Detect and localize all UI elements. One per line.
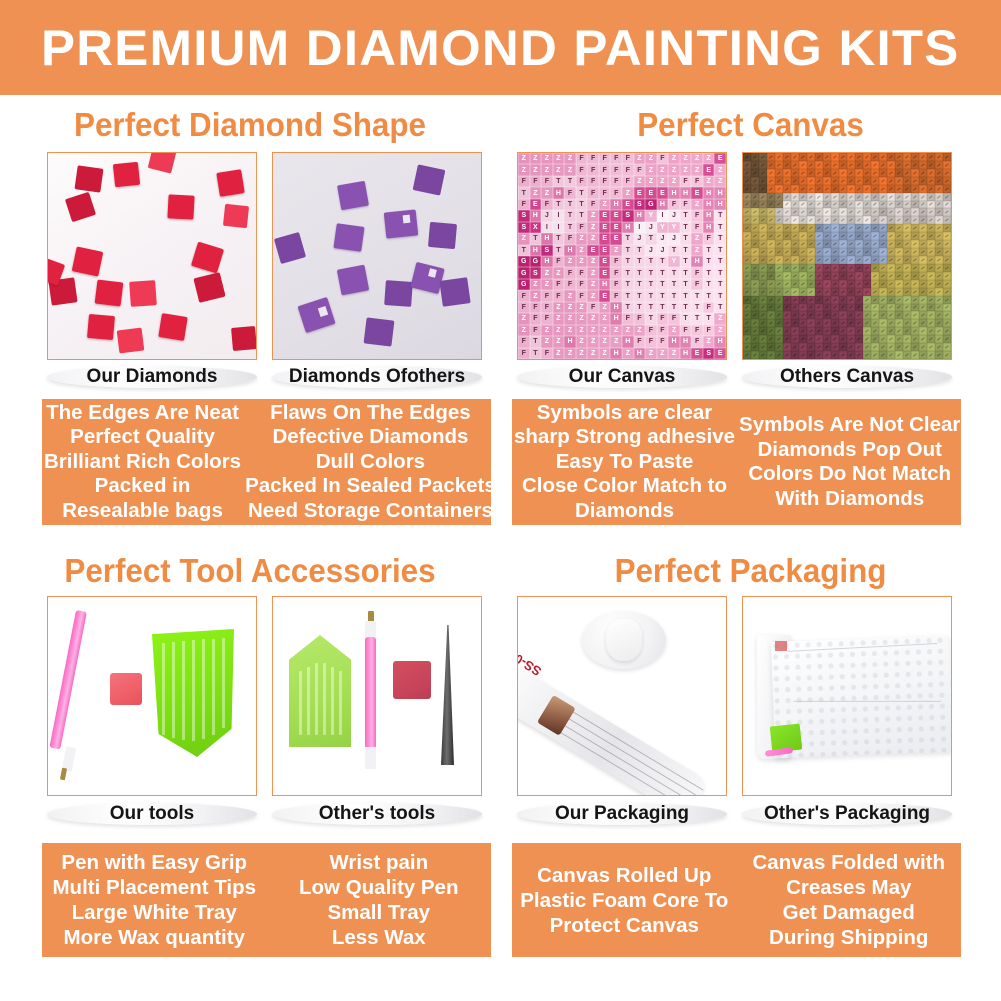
infographic-page: PREMIUM DIAMOND PAINTING KITS Perfect Di…	[0, 0, 1001, 1001]
canvas-symbol-cell	[743, 256, 751, 264]
canvas-symbol-cell	[759, 319, 767, 327]
canvas-symbol-cell	[919, 319, 927, 327]
canvas-symbol-cell	[911, 177, 919, 185]
canvas-symbol-cell	[927, 319, 935, 327]
canvas-symbol-cell	[855, 296, 863, 304]
canvas-symbol-cell	[799, 248, 807, 256]
canvas-symbol-cell: Z	[541, 153, 553, 164]
canvas-symbol-cell	[863, 201, 871, 209]
canvas-symbol-cell	[767, 288, 775, 296]
canvas-symbol-cell	[743, 177, 751, 185]
canvas-symbol-cell	[743, 232, 751, 240]
canvas-symbol-cell	[919, 264, 927, 272]
text-line: Large White Tray	[72, 900, 237, 925]
canvas-symbol-cell	[839, 304, 847, 312]
canvas-symbol-cell: H	[714, 336, 726, 347]
canvas-symbol-cell	[807, 264, 815, 272]
canvas-symbol-cell	[855, 177, 863, 185]
canvas-symbol-cell: H	[680, 336, 692, 347]
canvas-symbol-cell	[831, 232, 839, 240]
canvas-symbol-cell	[831, 296, 839, 304]
canvas-symbol-cell	[807, 201, 815, 209]
small-wax-square-shape	[393, 661, 431, 699]
canvas-symbol-cell	[831, 169, 839, 177]
canvas-symbol-cell: F	[530, 302, 542, 313]
canvas-symbol-cell	[767, 296, 775, 304]
canvas-symbol-cell	[751, 177, 759, 185]
canvas-symbol-cell	[847, 280, 855, 288]
canvas-symbol-cell: T	[691, 290, 703, 301]
canvas-symbol-cell	[895, 232, 903, 240]
canvas-symbol-cell	[799, 319, 807, 327]
canvas-symbol-cell: F	[587, 199, 599, 210]
canvas-symbol-cell	[839, 351, 847, 359]
canvas-symbol-cell	[751, 304, 759, 312]
canvas-symbol-cell	[815, 153, 823, 161]
canvas-symbol-cell: H	[680, 348, 692, 359]
canvas-symbol-cell: Y	[645, 210, 657, 221]
canvas-symbol-cell: E	[703, 164, 715, 175]
canvas-symbol-cell	[839, 224, 847, 232]
canvas-symbol-cell: T	[703, 256, 715, 267]
canvas-symbol-cell	[879, 208, 887, 216]
canvas-symbol-cell	[807, 208, 815, 216]
canvas-symbol-cell	[887, 248, 895, 256]
canvas-symbol-cell	[847, 335, 855, 343]
canvas-symbol-cell: G	[645, 199, 657, 210]
canvas-symbol-cell	[767, 224, 775, 232]
canvas-symbol-cell	[799, 208, 807, 216]
canvas-symbol-cell	[863, 327, 871, 335]
canvas-symbol-cell	[855, 224, 863, 232]
canvas-symbol-cell	[807, 319, 815, 327]
canvas-symbol-cell	[783, 153, 791, 161]
canvas-symbol-cell: F	[553, 256, 565, 267]
canvas-symbol-cell	[919, 272, 927, 280]
canvas-symbol-cell: F	[587, 153, 599, 164]
canvas-symbol-cell	[815, 304, 823, 312]
canvas-symbol-cell: Z	[634, 153, 646, 164]
canvas-symbol-cell: T	[645, 256, 657, 267]
canvas-symbol-cell	[791, 201, 799, 209]
canvas-symbol-cell	[767, 169, 775, 177]
canvas-symbol-cell: T	[703, 290, 715, 301]
canvas-symbol-cell	[831, 327, 839, 335]
canvas-symbol-cell	[903, 224, 911, 232]
canvas-symbol-cell: T	[691, 302, 703, 313]
canvas-symbol-cell	[887, 185, 895, 193]
canvas-symbol-cell	[751, 224, 759, 232]
canvas-symbol-cell: T	[680, 210, 692, 221]
canvas-symbol-cell	[759, 193, 767, 201]
canvas-symbol-cell	[911, 319, 919, 327]
canvas-symbol-cell	[815, 240, 823, 248]
canvas-symbol-cell	[903, 193, 911, 201]
canvas-symbol-cell	[919, 327, 927, 335]
canvas-symbol-cell	[751, 288, 759, 296]
canvas-symbol-cell	[871, 201, 879, 209]
canvas-symbol-cell	[855, 351, 863, 359]
canvas-symbol-cell	[943, 193, 951, 201]
canvas-symbol-cell	[855, 232, 863, 240]
canvas-symbol-cell	[791, 296, 799, 304]
text-line: Creases May	[786, 875, 911, 900]
canvas-symbol-cell: H	[610, 313, 622, 324]
canvas-symbol-cell	[895, 311, 903, 319]
canvas-symbol-cell	[927, 177, 935, 185]
canvas-symbol-cell	[895, 193, 903, 201]
canvas-symbol-cell	[783, 232, 791, 240]
canvas-symbol-cell	[823, 232, 831, 240]
canvas-symbol-cell	[815, 351, 823, 359]
canvas-symbol-cell: J	[645, 222, 657, 233]
canvas-symbol-cell	[903, 335, 911, 343]
canvas-symbol-cell: H	[668, 187, 680, 198]
canvas-symbol-cell: F	[610, 153, 622, 164]
canvas-symbol-cell: S	[530, 267, 542, 278]
canvas-symbol-cell: Z	[599, 302, 611, 313]
canvas-symbol-cell	[831, 288, 839, 296]
canvas-symbol-cell	[799, 161, 807, 169]
canvas-symbol-cell	[839, 264, 847, 272]
canvas-symbol-cell	[871, 232, 879, 240]
canvas-symbol-cell	[751, 327, 759, 335]
canvas-symbol-cell: T	[622, 256, 634, 267]
canvas-symbol-cell: F	[680, 176, 692, 187]
text-line: Close Color Match to	[522, 474, 727, 499]
canvas-symbol-cell	[807, 327, 815, 335]
canvas-symbol-cell	[783, 224, 791, 232]
canvas-symbol-cell	[903, 280, 911, 288]
canvas-symbol-cell	[751, 232, 759, 240]
canvas-symbol-cell	[903, 232, 911, 240]
canvas-symbol-cell	[855, 185, 863, 193]
canvas-symbol-cell	[759, 216, 767, 224]
canvas-symbol-cell	[791, 248, 799, 256]
canvas-symbol-cell	[775, 216, 783, 224]
canvas-symbol-cell: T	[645, 233, 657, 244]
canvas-symbol-cell	[903, 201, 911, 209]
text-line: Defective Diamonds	[272, 425, 468, 450]
canvas-symbol-cell	[783, 201, 791, 209]
canvas-symbol-cell: F	[657, 313, 669, 324]
canvas-symbol-cell	[871, 216, 879, 224]
canvas-symbol-cell: T	[657, 256, 669, 267]
canvas-symbol-cell: Z	[691, 245, 703, 256]
canvas-symbol-cell	[743, 304, 751, 312]
canvas-symbol-cell: T	[530, 348, 542, 359]
canvas-symbol-cell	[863, 296, 871, 304]
canvas-symbol-cell	[847, 185, 855, 193]
canvas-symbol-cell	[759, 272, 767, 280]
canvas-symbol-cell: H	[714, 199, 726, 210]
canvas-symbol-cell	[831, 343, 839, 351]
canvas-symbol-cell: T	[564, 199, 576, 210]
canvas-symbol-cell	[751, 280, 759, 288]
canvas-symbol-cell: T	[634, 267, 646, 278]
canvas-symbol-cell	[863, 288, 871, 296]
small-green-tray-shape	[289, 635, 351, 747]
canvas-symbol-cell	[911, 248, 919, 256]
canvas-symbol-cell	[783, 256, 791, 264]
canvas-symbol-cell: T	[680, 267, 692, 278]
canvas-symbol-cell: Z	[530, 279, 542, 290]
text-line: Canvas Rolled Up	[537, 863, 711, 888]
canvas-symbol-cell	[855, 153, 863, 161]
canvas-symbol-cell: I	[553, 210, 565, 221]
photo-our-canvas: ZZZZZFFFFFZZFZZZZEZZZZZFFFFFFZZZZZEZFFFT…	[517, 152, 727, 360]
canvas-symbol-cell: Z	[564, 325, 576, 336]
canvas-symbol-cell	[927, 351, 935, 359]
canvas-symbol-cell	[935, 351, 943, 359]
canvas-symbol-cell	[863, 240, 871, 248]
canvas-symbol-cell: Z	[541, 267, 553, 278]
pink-symbol-grid: ZZZZZFFFFFZZFZZZZEZZZZZFFFFFFZZZZZEZFFFT…	[518, 153, 726, 359]
canvas-symbol-cell	[767, 193, 775, 201]
canvas-symbol-cell: E	[622, 199, 634, 210]
canvas-symbol-cell	[807, 153, 815, 161]
canvas-symbol-cell	[823, 185, 831, 193]
canvas-symbol-cell	[879, 296, 887, 304]
canvas-symbol-cell: F	[610, 176, 622, 187]
canvas-symbol-cell	[767, 351, 775, 359]
canvas-symbol-cell	[871, 272, 879, 280]
canvas-symbol-cell	[783, 280, 791, 288]
canvas-symbol-cell: T	[634, 256, 646, 267]
canvas-symbol-cell	[759, 208, 767, 216]
text-line: Symbols Are Not Clear	[739, 413, 960, 438]
canvas-symbol-cell	[935, 256, 943, 264]
canvas-symbol-cell	[847, 248, 855, 256]
large-green-tray-shape	[152, 629, 234, 757]
photo-our-diamonds	[47, 152, 257, 360]
canvas-symbol-cell	[791, 240, 799, 248]
canvas-symbol-cell	[911, 169, 919, 177]
canvas-symbol-cell	[783, 240, 791, 248]
canvas-symbol-cell: E	[599, 256, 611, 267]
canvas-symbol-cell	[911, 343, 919, 351]
canvas-symbol-cell	[823, 216, 831, 224]
text-block-tool-accessories: Pen with Easy GripMulti Placement TipsLa…	[42, 843, 491, 957]
canvas-symbol-cell	[919, 224, 927, 232]
canvas-symbol-cell	[815, 288, 823, 296]
canvas-symbol-cell	[839, 335, 847, 343]
canvas-symbol-cell	[911, 288, 919, 296]
canvas-symbol-cell: F	[691, 210, 703, 221]
canvas-symbol-cell: Z	[668, 348, 680, 359]
canvas-symbol-cell: F	[518, 290, 530, 301]
canvas-symbol-cell	[799, 232, 807, 240]
canvas-symbol-cell	[919, 193, 927, 201]
canvas-symbol-cell	[759, 335, 767, 343]
canvas-symbol-cell	[791, 153, 799, 161]
canvas-symbol-cell: T	[714, 245, 726, 256]
canvas-symbol-cell	[911, 311, 919, 319]
canvas-symbol-cell	[743, 288, 751, 296]
canvas-symbol-cell	[743, 296, 751, 304]
text-line: The Edges Are Neat	[46, 401, 239, 426]
canvas-symbol-cell	[759, 304, 767, 312]
canvas-symbol-cell: S	[634, 199, 646, 210]
canvas-symbol-cell	[895, 319, 903, 327]
canvas-symbol-cell	[935, 161, 943, 169]
canvas-symbol-cell	[767, 177, 775, 185]
canvas-symbol-cell: G	[518, 279, 530, 290]
canvas-symbol-cell: Z	[703, 153, 715, 164]
canvas-symbol-cell: H	[599, 279, 611, 290]
canvas-symbol-cell: Z	[610, 325, 622, 336]
canvas-symbol-cell: F	[576, 176, 588, 187]
canvas-symbol-cell	[919, 343, 927, 351]
canvas-symbol-cell	[863, 169, 871, 177]
canvas-symbol-cell	[767, 335, 775, 343]
canvas-symbol-cell	[839, 296, 847, 304]
canvas-symbol-cell	[903, 311, 911, 319]
canvas-symbol-cell: Z	[576, 302, 588, 313]
canvas-symbol-cell: Z	[587, 222, 599, 233]
canvas-symbol-cell	[759, 185, 767, 193]
canvas-symbol-cell	[799, 224, 807, 232]
canvas-symbol-cell: T	[622, 267, 634, 278]
canvas-symbol-cell: E	[657, 187, 669, 198]
canvas-symbol-cell	[799, 264, 807, 272]
canvas-symbol-cell	[919, 288, 927, 296]
canvas-symbol-cell	[855, 335, 863, 343]
canvas-symbol-cell	[767, 256, 775, 264]
canvas-symbol-cell	[783, 351, 791, 359]
canvas-symbol-cell	[751, 201, 759, 209]
canvas-symbol-cell	[943, 288, 951, 296]
canvas-symbol-cell	[895, 351, 903, 359]
canvas-symbol-cell: F	[518, 348, 530, 359]
canvas-symbol-cell	[895, 208, 903, 216]
canvas-symbol-cell	[783, 319, 791, 327]
page-title: PREMIUM DIAMOND PAINTING KITS	[41, 19, 960, 77]
canvas-symbol-cell	[895, 304, 903, 312]
text-line: Plastic Foam Core To	[520, 888, 728, 913]
text-line: With Diamonds	[775, 487, 924, 512]
canvas-symbol-cell	[871, 161, 879, 169]
canvas-symbol-cell: S	[518, 222, 530, 233]
canvas-symbol-cell	[791, 288, 799, 296]
canvas-symbol-cell	[863, 280, 871, 288]
canvas-symbol-cell	[839, 232, 847, 240]
canvas-symbol-cell: T	[703, 267, 715, 278]
canvas-symbol-cell	[847, 351, 855, 359]
canvas-symbol-cell	[839, 319, 847, 327]
canvas-symbol-cell	[823, 327, 831, 335]
canvas-symbol-cell	[791, 319, 799, 327]
red-drills-scene	[48, 153, 256, 359]
canvas-symbol-cell	[799, 296, 807, 304]
canvas-symbol-cell: G	[530, 256, 542, 267]
canvas-symbol-cell	[903, 343, 911, 351]
canvas-symbol-cell	[927, 248, 935, 256]
canvas-symbol-cell: Z	[553, 348, 565, 359]
canvas-symbol-cell	[751, 296, 759, 304]
canvas-symbol-cell	[919, 208, 927, 216]
canvas-symbol-cell: T	[553, 199, 565, 210]
canvas-symbol-cell	[887, 319, 895, 327]
canvas-symbol-cell	[847, 208, 855, 216]
caption-other-tools: Other's tools	[272, 803, 482, 825]
canvas-symbol-cell	[751, 153, 759, 161]
canvas-symbol-cell	[775, 208, 783, 216]
canvas-symbol-cell: E	[645, 187, 657, 198]
canvas-symbol-cell	[743, 311, 751, 319]
canvas-symbol-cell	[871, 264, 879, 272]
canvas-symbol-cell	[943, 304, 951, 312]
canvas-symbol-cell: F	[576, 164, 588, 175]
canvas-symbol-cell	[927, 224, 935, 232]
canvas-symbol-cell: F	[541, 176, 553, 187]
canvas-symbol-cell	[823, 240, 831, 248]
canvas-symbol-cell	[807, 256, 815, 264]
canvas-symbol-cell: H	[703, 222, 715, 233]
canvas-symbol-cell: T	[714, 256, 726, 267]
caption-other-packaging: Other's Packaging	[742, 803, 952, 825]
canvas-symbol-cell	[895, 201, 903, 209]
canvas-symbol-cell	[799, 335, 807, 343]
canvas-symbol-cell	[911, 185, 919, 193]
other-pink-pen-shape	[365, 637, 376, 749]
canvas-symbol-cell	[839, 240, 847, 248]
canvas-symbol-cell: S	[703, 348, 715, 359]
canvas-symbol-cell	[823, 296, 831, 304]
canvas-symbol-cell	[791, 351, 799, 359]
canvas-symbol-cell	[911, 327, 919, 335]
canvas-symbol-cell	[847, 201, 855, 209]
canvas-symbol-cell	[879, 169, 887, 177]
canvas-symbol-cell	[807, 240, 815, 248]
text-line: Packed In Sealed Packets	[245, 474, 496, 499]
canvas-symbol-cell: F	[610, 164, 622, 175]
text-line: Flaws On The Edges	[270, 401, 471, 426]
canvas-symbol-cell	[943, 232, 951, 240]
canvas-symbol-cell	[895, 272, 903, 280]
canvas-symbol-cell	[935, 248, 943, 256]
canvas-symbol-cell	[863, 311, 871, 319]
canvas-symbol-cell	[767, 208, 775, 216]
canvas-symbol-cell	[855, 161, 863, 169]
canvas-symbol-cell: T	[553, 233, 565, 244]
canvas-symbol-cell	[799, 343, 807, 351]
canvas-symbol-cell	[871, 248, 879, 256]
canvas-symbol-cell: F	[680, 325, 692, 336]
canvas-symbol-cell	[775, 185, 783, 193]
canvas-symbol-cell	[903, 177, 911, 185]
canvas-symbol-cell	[871, 240, 879, 248]
canvas-symbol-cell	[807, 272, 815, 280]
canvas-symbol-cell: Z	[634, 325, 646, 336]
text-line: Multi Placement Tips	[52, 875, 256, 900]
canvas-symbol-cell: J	[657, 245, 669, 256]
canvas-symbol-cell: H	[668, 336, 680, 347]
canvas-symbol-cell	[879, 327, 887, 335]
canvas-symbol-cell	[903, 288, 911, 296]
canvas-symbol-cell	[871, 327, 879, 335]
canvas-symbol-cell: H	[703, 187, 715, 198]
canvas-symbol-cell	[935, 240, 943, 248]
canvas-symbol-cell: Z	[691, 153, 703, 164]
canvas-symbol-cell	[911, 256, 919, 264]
canvas-symbol-cell	[855, 288, 863, 296]
canvas-symbol-cell	[911, 216, 919, 224]
canvas-symbol-cell	[911, 351, 919, 359]
canvas-symbol-cell	[751, 161, 759, 169]
canvas-symbol-cell	[831, 193, 839, 201]
canvas-symbol-cell	[791, 232, 799, 240]
